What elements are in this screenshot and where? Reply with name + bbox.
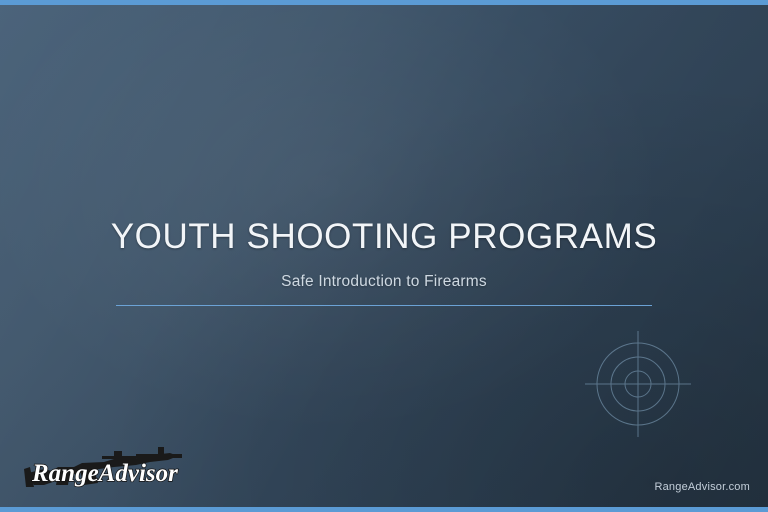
crosshair-target-icon [583, 329, 693, 439]
title-divider-rule [116, 305, 652, 306]
brand-logo-wordmark: RangeAdvisor [31, 460, 178, 487]
slide-title: YOUTH SHOOTING PROGRAMS [0, 217, 768, 257]
presentation-slide: YOUTH SHOOTING PROGRAMS Safe Introductio… [0, 0, 768, 512]
brand-logo: RangeAdvisor [18, 429, 193, 491]
title-block: YOUTH SHOOTING PROGRAMS Safe Introductio… [0, 217, 768, 306]
footer-url: RangeAdvisor.com [654, 481, 750, 493]
slide-subtitle: Safe Introduction to Firearms [0, 273, 768, 291]
